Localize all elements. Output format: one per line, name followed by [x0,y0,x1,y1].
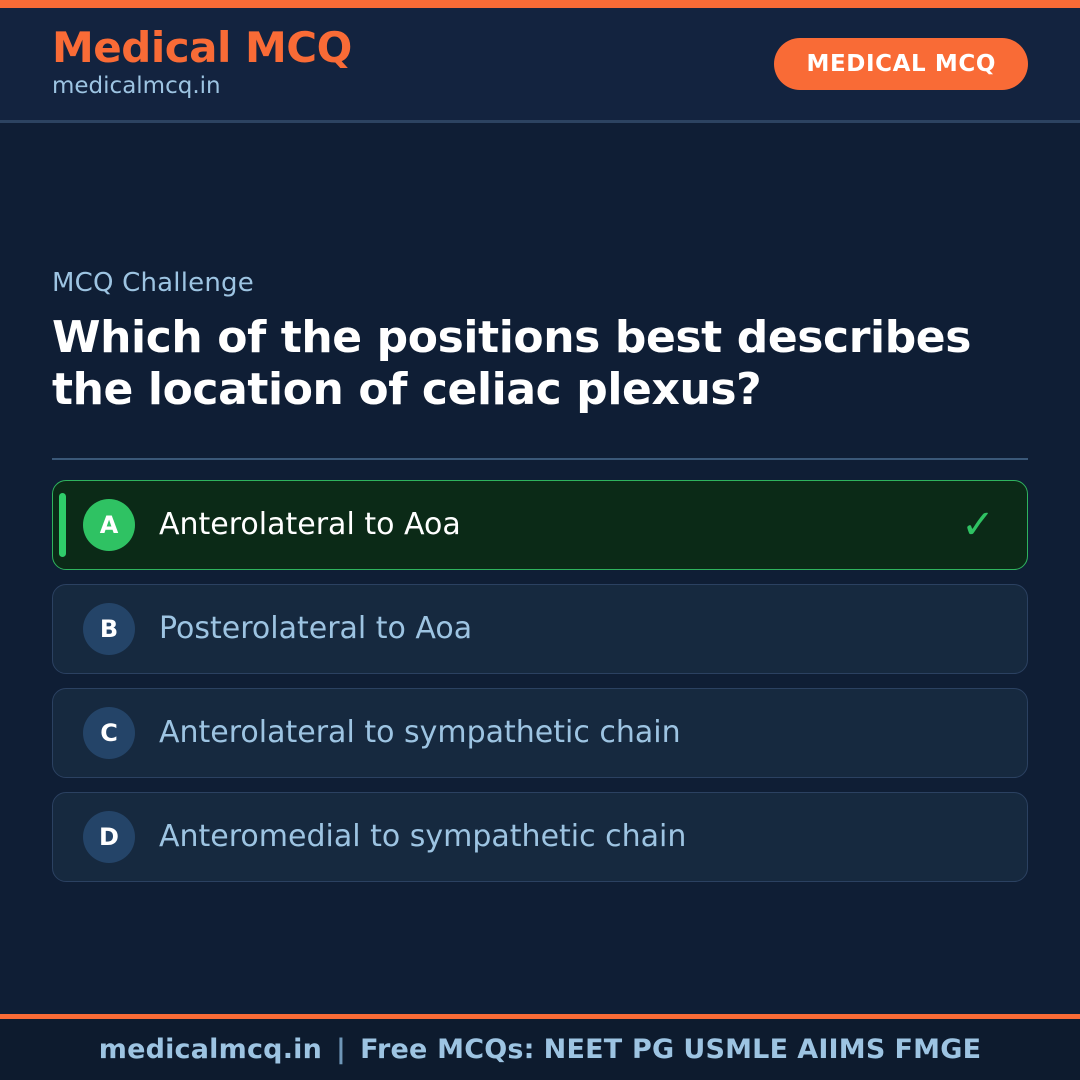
options-list: AAnterolateral to Aoa✓BPosterolateral to… [52,480,1028,882]
eyebrow-label: MCQ Challenge [52,268,1028,298]
header: Medical MCQ medicalmcq.in MEDICAL MCQ [0,8,1080,123]
option-b[interactable]: BPosterolateral to Aoa [52,584,1028,674]
option-text: Anteromedial to sympathetic chain [159,819,957,855]
option-key-badge: A [83,499,135,551]
option-a[interactable]: AAnterolateral to Aoa✓ [52,480,1028,570]
brand-block: Medical MCQ medicalmcq.in [52,26,352,102]
footer-exam-list: NEET PGUSMLEAIIMSFMGE [535,1034,982,1065]
option-d[interactable]: DAnteromedial to sympathetic chain [52,792,1028,882]
main-content: MCQ Challenge Which of the positions bes… [0,123,1080,1014]
option-key-badge: C [83,707,135,759]
option-key-badge: B [83,603,135,655]
footer-text: medicalmcq.in|Free MCQs:NEET PGUSMLEAIIM… [99,1034,982,1065]
footer: medicalmcq.in|Free MCQs:NEET PGUSMLEAIIM… [0,1014,1080,1080]
header-badge: MEDICAL MCQ [774,38,1028,90]
footer-exam-tag: AIIMS [788,1034,885,1065]
brand-title: Medical MCQ [52,26,352,70]
footer-exam-tag: FMGE [886,1034,982,1065]
correct-accent-bar [59,493,66,557]
top-accent-bar [0,0,1080,8]
section-divider [52,458,1028,460]
footer-exam-tag: USMLE [674,1034,788,1065]
question-text: Which of the positions best describes th… [52,312,982,416]
option-key-badge: D [83,811,135,863]
option-text: Anterolateral to Aoa [159,507,957,543]
option-text: Posterolateral to Aoa [159,611,957,647]
option-text: Anterolateral to sympathetic chain [159,715,957,751]
footer-exam-tag: NEET PG [535,1034,675,1065]
check-icon: ✓ [957,505,999,545]
footer-site: medicalmcq.in [99,1034,322,1065]
brand-subtitle: medicalmcq.in [52,72,352,102]
footer-label: Free MCQs: [360,1034,535,1065]
footer-separator: | [322,1034,360,1065]
mcq-card: Medical MCQ medicalmcq.in MEDICAL MCQ MC… [0,0,1080,1080]
option-c[interactable]: CAnterolateral to sympathetic chain [52,688,1028,778]
